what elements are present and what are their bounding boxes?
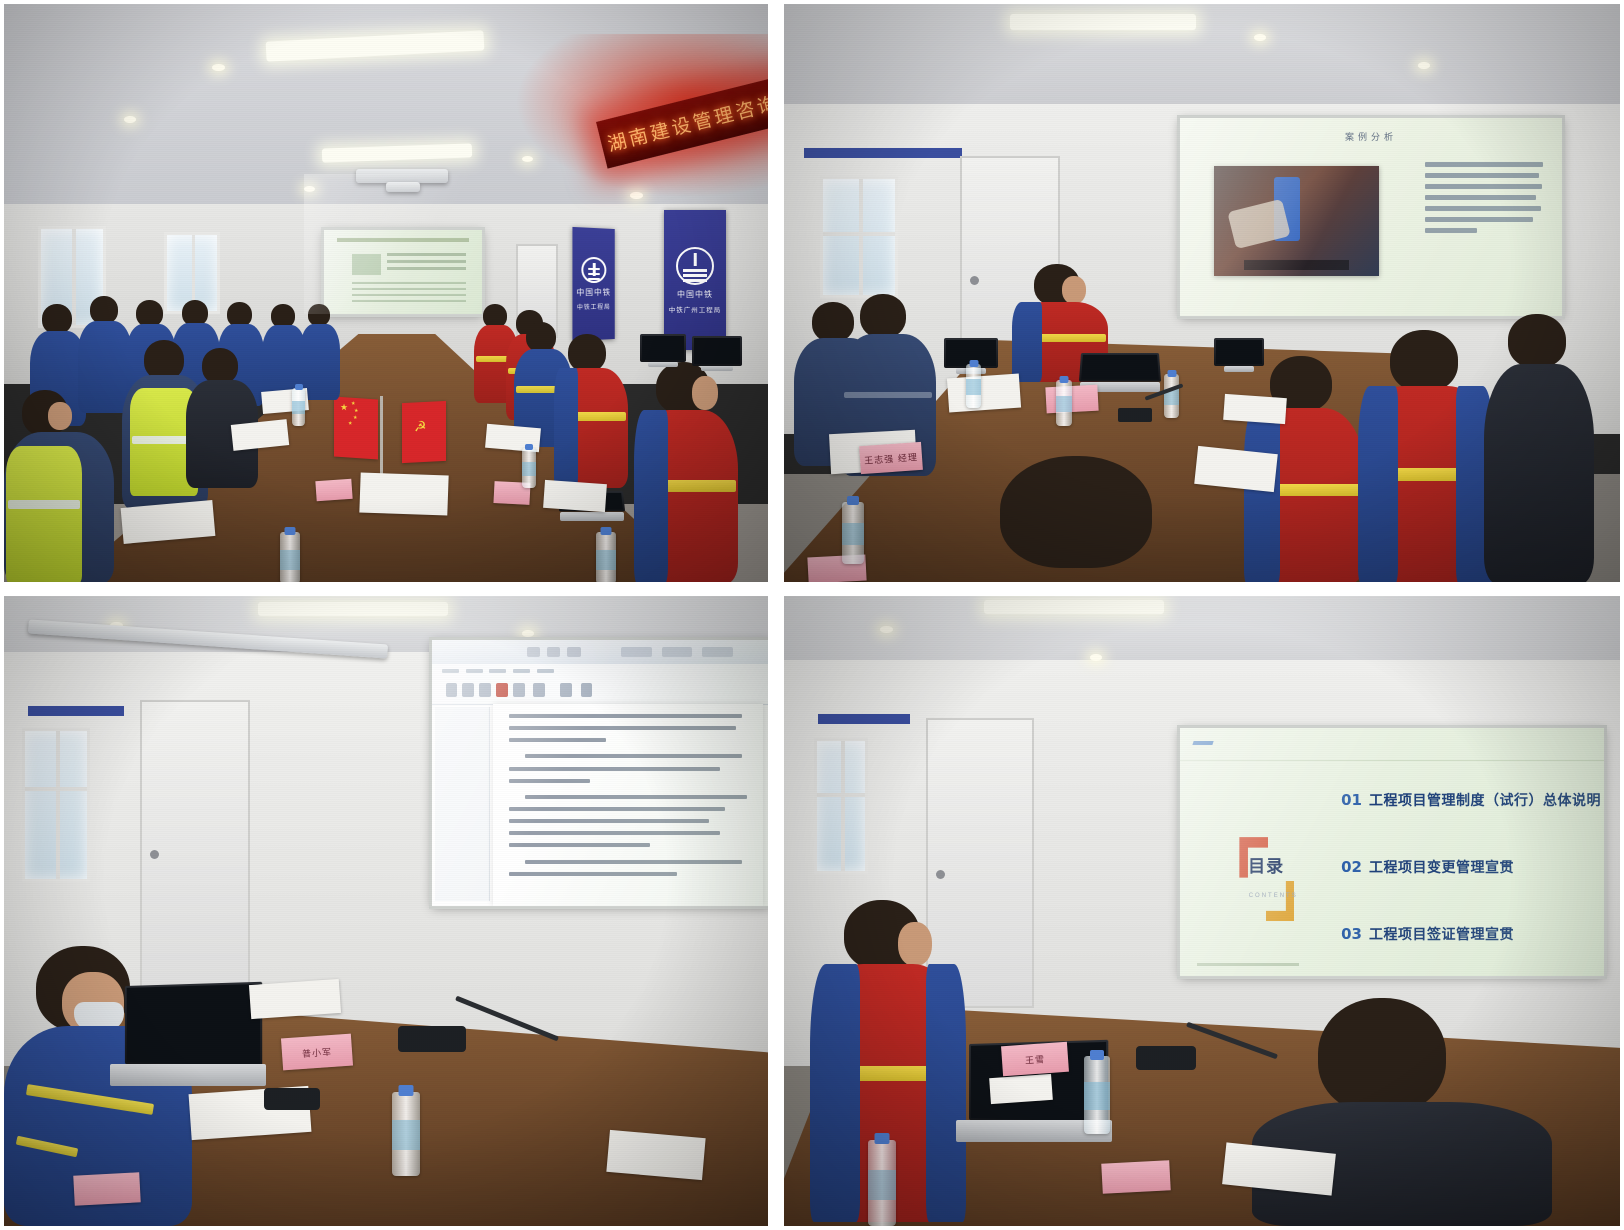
ceiling-light [984, 600, 1164, 614]
window [820, 176, 898, 298]
attendee [634, 362, 738, 582]
projection-screen: 案例分析 [1180, 118, 1562, 316]
wall-panel-logo-caption: 中国中铁 [576, 287, 611, 298]
water-bottle [292, 388, 305, 426]
downlight [522, 630, 534, 637]
wall-panel-sub-caption: 中铁广州工程局 [669, 304, 722, 314]
document [606, 1130, 705, 1180]
photo-collage-page: 湖南建设管理咨询有限公司 中国中铁 中铁工程局 [0, 0, 1624, 1230]
document [359, 472, 448, 515]
nameplate [315, 479, 352, 501]
window [814, 738, 868, 874]
document [989, 1074, 1053, 1104]
document [543, 480, 607, 512]
attendee [186, 348, 258, 488]
projection-screen [432, 640, 768, 906]
photo-bottom-left: 普小军 [4, 596, 768, 1226]
downlight [1090, 654, 1102, 661]
projection-screen [324, 230, 482, 314]
photo-top-left: 湖南建设管理咨询有限公司 中国中铁 中铁工程局 [4, 4, 768, 582]
attendee [1484, 314, 1594, 582]
nameplate-text: 王雪 [1025, 1052, 1046, 1066]
nameplate-text: 王志强 经理 [864, 450, 919, 467]
cpc-party-flag: ☭ [402, 401, 446, 463]
attendee [300, 304, 340, 400]
water-bottle [1164, 374, 1179, 418]
nameplate: 普小军 [281, 1034, 353, 1071]
nameplate [1101, 1160, 1170, 1194]
wall-panel-sub-caption: 中铁工程局 [577, 302, 611, 312]
water-bottle [596, 532, 616, 582]
flag-pole [380, 396, 383, 478]
window [22, 728, 90, 882]
attendee-foreground [1000, 456, 1152, 582]
laptop [110, 984, 260, 1088]
microphone [1136, 1046, 1196, 1070]
projection-screen: 目录 CONTENTS 01工程项目管理制度（试行）总体说明 02工程项目变更管… [1180, 728, 1604, 976]
water-bottle [842, 502, 864, 564]
downlight [1254, 34, 1266, 41]
monitor [1214, 338, 1264, 374]
water-bottle [1084, 1056, 1110, 1134]
monitor [640, 334, 686, 368]
microphone [1118, 408, 1152, 422]
document [1223, 394, 1287, 424]
water-bottle [868, 1140, 896, 1226]
attendee-hi-vis [4, 390, 114, 582]
downlight [880, 626, 893, 633]
downlight [212, 64, 225, 71]
monitor [692, 336, 742, 372]
nameplate: 王志强 经理 [859, 442, 923, 474]
wall-panel-left: 中国中铁 中铁工程局 [572, 227, 614, 341]
microphone [264, 1088, 320, 1110]
document [249, 979, 341, 1019]
water-bottle [280, 532, 300, 582]
nameplate-text: 普小军 [302, 1044, 333, 1059]
nameplate [73, 1172, 140, 1205]
attendee [1358, 330, 1494, 582]
water-bottle [966, 364, 981, 408]
nameplate [1045, 385, 1098, 414]
china-national-flag: ★ ★ ★ ★ ★ [334, 396, 378, 459]
downlight [1418, 62, 1430, 69]
nameplate: 王雪 [1001, 1042, 1069, 1077]
attendee [554, 334, 628, 488]
wall-panel-logo-caption: 中国中铁 [677, 289, 713, 300]
ceiling-light [1010, 14, 1196, 30]
water-bottle [522, 448, 536, 488]
wall-panel-right: 中国中铁 中铁广州工程局 [664, 210, 726, 350]
ceiling-light [258, 602, 448, 616]
photo-bottom-right: 目录 CONTENTS 01工程项目管理制度（试行）总体说明 02工程项目变更管… [784, 596, 1620, 1226]
microphone [398, 1026, 466, 1052]
projector-mount [386, 182, 420, 192]
downlight [304, 186, 315, 192]
photo-top-right: 案例分析 [784, 4, 1620, 582]
downlight [124, 116, 136, 123]
water-bottle [1056, 380, 1072, 426]
document [947, 374, 1021, 413]
projector-mount [356, 169, 448, 183]
water-bottle [392, 1092, 420, 1176]
